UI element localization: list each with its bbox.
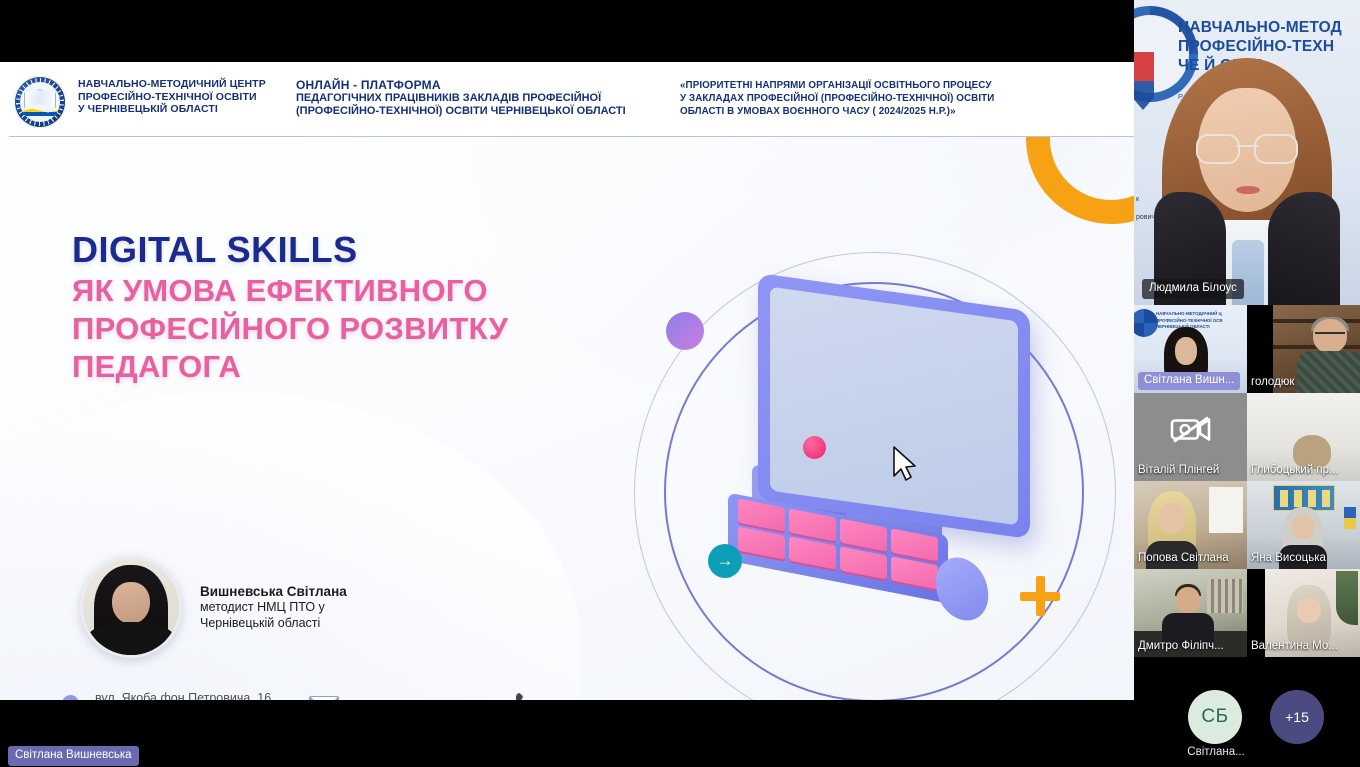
participant-name-4: Глибоцький пр...	[1251, 463, 1339, 478]
presenter-avatar	[80, 556, 182, 658]
platform-line-2: ПЕДАГОГІЧНИХ ПРАЦІВНИКІВ ЗАКЛАДІВ ПРОФЕС…	[296, 92, 666, 105]
purple-dot-decoration	[666, 312, 704, 350]
overflow-participants-row: СБ Світлана... +15	[1134, 688, 1360, 767]
presenter-role-1: методист НМЦ ПТО у	[200, 600, 347, 616]
participant-tile-7[interactable]: Дмитро Філіпч...	[1134, 569, 1247, 657]
org-line-1: НАВЧАЛЬНО-МЕТОДИЧНИЙ ЦЕНТР	[78, 78, 278, 91]
platform-title: ОНЛАЙН - ПЛАТФОРМА ПЕДАГОГІЧНИХ ПРАЦІВНИ…	[296, 78, 666, 119]
active-speaker-name: Людмила Білоус	[1142, 279, 1244, 299]
participant-tile-8[interactable]: Валентина Мо...	[1247, 569, 1360, 657]
shared-screen-stage: НАВЧАЛЬНО-МЕТОДИЧНИЙ ЦЕНТР ПРОФЕСІЙНО-ТЕ…	[0, 0, 1134, 767]
monitor-screen	[770, 287, 1018, 526]
contact-email: nmc_pto_cv@ukr.net	[271, 696, 475, 701]
participant-grid: НАВЧАЛЬНО-МЕТОДИЧНИЙ ЦПРОФЕСІЙНО-ТЕХНІЧН…	[1134, 305, 1360, 675]
slide-title-block: DIGITAL SKILLS ЯК УМОВА ЕФЕКТИВНОГО ПРОФ…	[72, 228, 508, 386]
participant-name-1: Світлана Вишн...	[1138, 372, 1240, 390]
participants-panel: НАВЧАЛЬНО-МЕТОД ПРОФЕСІЙНО-ТЕХН ЧЕ Й ОБЛ…	[1134, 0, 1360, 767]
speaker-bg-line-1: НАВЧАЛЬНО-МЕТОД	[1178, 18, 1358, 37]
participant-tile-2[interactable]: голодюк	[1247, 305, 1360, 393]
phone-icon	[516, 696, 536, 700]
participant-tile-6[interactable]: Яна Висоцька	[1247, 481, 1360, 569]
contacts-bar: вул. Якоба фон Петровича, 16 м. Чернівці…	[62, 690, 643, 700]
screen-root: НАВЧАЛЬНО-МЕТОДИЧНИЙ ЦЕНТР ПРОФЕСІЙНО-ТЕ…	[0, 0, 1360, 767]
participant-name-2: голодюк	[1251, 375, 1294, 390]
participant-tile-1[interactable]: НАВЧАЛЬНО-МЕТОДИЧНИЙ ЦПРОФЕСІЙНО-ТЕХНІЧН…	[1134, 305, 1247, 393]
participant-name-5: Попова Світлана	[1138, 551, 1229, 566]
presenter-block: Вишневська Світлана методист НМЦ ПТО у Ч…	[80, 556, 347, 658]
participant-tile-3[interactable]: Віталій Плінгей	[1134, 393, 1247, 481]
org-line-2: ПРОФЕСІЙНО-ТЕХНІЧНОЇ ОСВІТИ	[78, 91, 278, 104]
platform-line-1: ОНЛАЙН - ПЛАТФОРМА	[296, 78, 666, 92]
speaker-bg-small-1: к	[1136, 196, 1139, 203]
title-sub-3: ПЕДАГОГА	[72, 348, 508, 386]
organization-name: НАВЧАЛЬНО-МЕТОДИЧНИЙ ЦЕНТР ПРОФЕСІЙНО-ТЕ…	[78, 78, 278, 116]
presenter-role-2: Чернівецькій області	[200, 616, 347, 632]
more-participants-count: +15	[1285, 709, 1309, 725]
pink-dot-decoration	[803, 436, 826, 459]
participant-name-8: Валентина Мо...	[1251, 639, 1338, 654]
monitor-icon	[758, 273, 1030, 539]
theme-line-1: «ПРІОРИТЕТНІ НАПРЯМИ ОРГАНІЗАЦІЇ ОСВІТНЬ…	[680, 79, 1134, 92]
speaker-bg-small-2: рович	[1136, 214, 1155, 221]
title-main: DIGITAL SKILLS	[72, 228, 508, 272]
orange-plus-decoration	[1020, 576, 1060, 616]
participant-name-6: Яна Висоцька	[1251, 551, 1326, 566]
avatar-initials-text: СБ	[1201, 706, 1228, 728]
location-pin-icon	[62, 695, 79, 701]
theme-line-2: У ЗАКЛАДАХ ПРОФЕСІЙНОЇ (ПРОФЕСІЙНО-ТЕХНІ…	[680, 92, 1134, 105]
camera-off-icon	[1170, 414, 1212, 449]
org-line-3: У ЧЕРНІВЕЦЬКІЙ ОБЛАСТІ	[78, 103, 278, 116]
avatar-name-label: Світлана...	[1174, 746, 1258, 758]
cursor-pointer-icon	[892, 446, 918, 482]
arrow-right-icon: →	[708, 544, 742, 578]
event-theme: «ПРІОРИТЕТНІ НАПРЯМИ ОРГАНІЗАЦІЇ ОСВІТНЬ…	[680, 79, 1134, 119]
contact-address: вул. Якоба фон Петровича, 16 м. Чернівці…	[62, 690, 271, 700]
computer-illustration: →	[620, 184, 1132, 696]
slide-header: НАВЧАЛЬНО-МЕТОДИЧНИЙ ЦЕНТР ПРОФЕСІЙНО-ТЕ…	[0, 62, 1134, 137]
nmc-logo-icon	[14, 76, 66, 128]
presentation-slide: НАВЧАЛЬНО-МЕТОДИЧНИЙ ЦЕНТР ПРОФЕСІЙНО-ТЕ…	[0, 62, 1134, 700]
email-text: nmc_pto_cv@ukr.net	[353, 699, 475, 701]
presenter-name: Вишневська Світлана	[200, 583, 347, 600]
participant-name-3: Віталій Плінгей	[1138, 463, 1219, 478]
participant-tile-4[interactable]: Глибоцький пр...	[1247, 393, 1360, 481]
participant-avatar-initials[interactable]: СБ	[1188, 690, 1242, 744]
speaker-video-person	[1156, 58, 1338, 305]
envelope-icon	[309, 696, 339, 701]
active-speaker-tile[interactable]: НАВЧАЛЬНО-МЕТОД ПРОФЕСІЙНО-ТЕХН ЧЕ Й ОБЛ…	[1134, 0, 1360, 305]
participant-name-7: Дмитро Філіпч...	[1138, 639, 1224, 654]
participant-tile-5[interactable]: Попова Світлана	[1134, 481, 1247, 569]
contact-phone: (0372) 52-34-08	[476, 696, 643, 700]
more-participants-badge[interactable]: +15	[1270, 690, 1324, 744]
theme-line-3: ОБЛАСТІ В УМОВАХ ВОЄННОГО ЧАСУ ( 2024/20…	[680, 105, 1134, 118]
phone-text: (0372) 52-34-08	[550, 699, 643, 701]
address-line-1: вул. Якоба фон Петровича, 16	[95, 690, 271, 700]
speaker-bg-line-2: ПРОФЕСІЙНО-ТЕХН	[1178, 37, 1358, 56]
taskbar-active-window[interactable]: Світлана Вишневська	[8, 746, 139, 766]
title-sub-2: ПРОФЕСІЙНОГО РОЗВИТКУ	[72, 310, 508, 348]
platform-line-3: (ПРОФЕСІЙНО-ТЕХНІЧНОЇ) ОСВІТИ ЧЕРНІВЕЦЬК…	[296, 105, 666, 118]
title-sub-1: ЯК УМОВА ЕФЕКТИВНОГО	[72, 272, 508, 310]
